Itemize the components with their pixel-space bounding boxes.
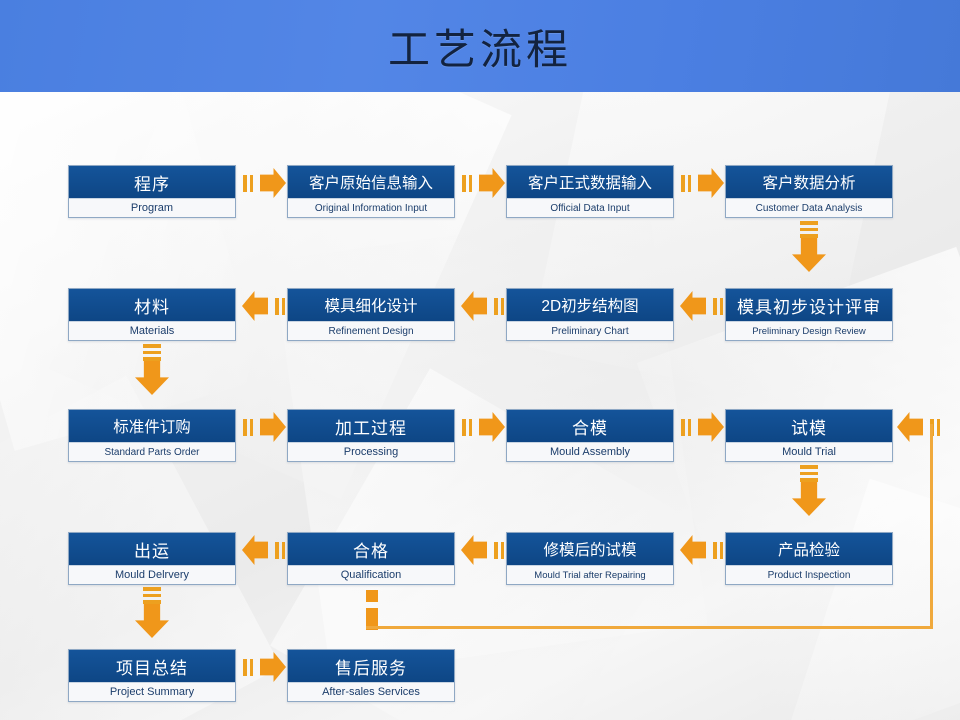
node-processing[interactable]: 加工过程 Processing [287,409,455,462]
arrow-mould-assembly-to-mould-trial [680,412,724,442]
node-label-en: Official Data Input [507,198,673,217]
node-label-cn: 客户正式数据输入 [507,166,673,198]
node-mould-trial[interactable]: 试模 Mould Trial [725,409,893,462]
node-label-en: Mould Trial [726,442,892,461]
node-mould-assembly[interactable]: 合模 Mould Assembly [506,409,674,462]
node-label-cn: 加工过程 [288,410,454,442]
node-label-en: Mould Assembly [507,442,673,461]
node-materials[interactable]: 材料 Materials [68,288,236,341]
arrow-refinement-design-to-materials [242,291,286,321]
arrow-preliminary-chart-to-refinement-design [461,291,505,321]
node-label-en: Mould Delrvery [69,565,235,584]
node-label-en: Project Summary [69,682,235,701]
arrow-qualification-to-delivery [242,535,286,565]
node-label-cn: 模具细化设计 [288,289,454,321]
node-preliminary-design-review[interactable]: 模具初步设计评审 Preliminary Design Review [725,288,893,341]
node-original-information-input[interactable]: 客户原始信息输入 Original Information Input [287,165,455,218]
arrow-design-review-to-preliminary-chart [680,291,724,321]
node-label-cn: 合格 [288,533,454,565]
node-preliminary-chart[interactable]: 2D初步结构图 Preliminary Chart [506,288,674,341]
node-label-cn: 客户原始信息输入 [288,166,454,198]
down-arrow-materials-to-parts [135,343,169,395]
arrow-processing-to-mould-assembly [461,412,505,442]
node-label-en: Product Inspection [726,565,892,584]
arrow-official-input-to-data-analysis [680,168,724,198]
node-label-cn: 标准件订购 [69,410,235,442]
node-standard-parts-order[interactable]: 标准件订购 Standard Parts Order [68,409,236,462]
node-customer-data-analysis[interactable]: 客户数据分析 Customer Data Analysis [725,165,893,218]
node-label-cn: 程序 [69,166,235,198]
arrow-parts-order-to-processing [242,412,286,442]
node-refinement-design[interactable]: 模具细化设计 Refinement Design [287,288,455,341]
node-label-cn: 修模后的试模 [507,533,673,565]
node-official-data-input[interactable]: 客户正式数据输入 Official Data Input [506,165,674,218]
node-project-summary[interactable]: 项目总结 Project Summary [68,649,236,702]
node-label-en: Mould Trial after Repairing [507,565,673,584]
node-label-en: Standard Parts Order [69,442,235,461]
node-label-cn: 试模 [726,410,892,442]
node-product-inspection[interactable]: 产品检验 Product Inspection [725,532,893,585]
node-label-cn: 产品检验 [726,533,892,565]
node-label-en: Customer Data Analysis [726,198,892,217]
title-banner: 工艺流程 [0,0,960,92]
node-label-cn: 模具初步设计评审 [726,289,892,321]
process-flow-slide: 工艺流程 程序 Program 客户原始信息输入 Original Inform… [0,0,960,720]
node-label-en: Qualification [288,565,454,584]
node-label-en: Program [69,198,235,217]
node-label-en: Materials [69,321,235,340]
node-label-en: Refinement Design [288,321,454,340]
node-label-en: Preliminary Chart [507,321,673,340]
arrow-repair-trial-to-qualification [461,535,505,565]
node-qualification[interactable]: 合格 Qualification [287,532,455,585]
down-arrow-delivery-to-summary [135,586,169,638]
node-label-cn: 2D初步结构图 [507,289,673,321]
arrow-original-input-to-official-input [461,168,505,198]
node-label-cn: 出运 [69,533,235,565]
node-label-cn: 合模 [507,410,673,442]
page-title: 工艺流程 [0,0,960,92]
node-mould-trial-after-repairing[interactable]: 修模后的试模 Mould Trial after Repairing [506,532,674,585]
node-label-en: Original Information Input [288,198,454,217]
node-label-en: Processing [288,442,454,461]
node-mould-delivery[interactable]: 出运 Mould Delrvery [68,532,236,585]
arrow-program-to-original-input [242,168,286,198]
node-label-cn: 材料 [69,289,235,321]
node-label-en: Preliminary Design Review [726,321,892,340]
node-label-cn: 售后服务 [288,650,454,682]
node-program[interactable]: 程序 Program [68,165,236,218]
node-label-cn: 客户数据分析 [726,166,892,198]
node-label-en: After-sales Services [288,682,454,701]
arrow-feedback-into-mould-trial [897,412,941,442]
diagram-canvas: 程序 Program 客户原始信息输入 Original Information… [0,92,960,720]
node-after-sales-services[interactable]: 售后服务 After-sales Services [287,649,455,702]
arrow-inspection-to-repair-trial [680,535,724,565]
down-arrow-trial-to-inspection [792,464,826,516]
arrow-summary-to-after-sales [242,652,286,682]
node-label-cn: 项目总结 [69,650,235,682]
down-arrow-analysis-to-review [792,220,826,272]
